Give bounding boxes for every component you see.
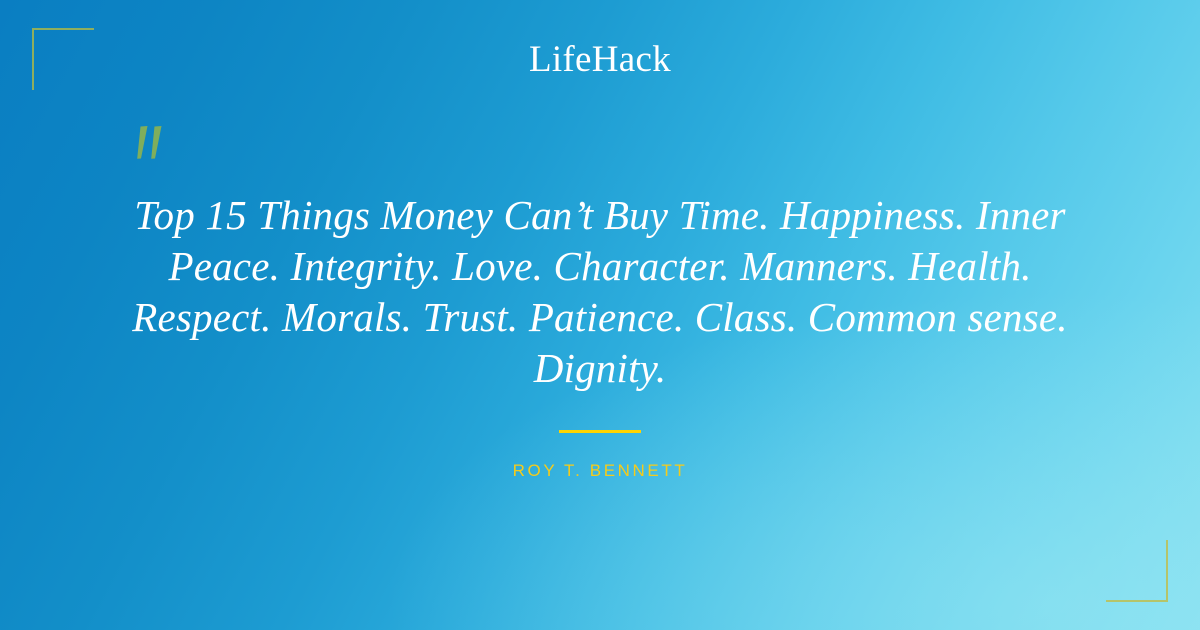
quote-author: ROY T. BENNETT bbox=[0, 461, 1200, 481]
quote-block: Top 15 Things Money Can’t Buy Time. Happ… bbox=[100, 190, 1100, 394]
quote-text: Top 15 Things Money Can’t Buy Time. Happ… bbox=[100, 190, 1100, 394]
corner-bracket-bottom-right-icon bbox=[1106, 540, 1168, 602]
double-quote-icon bbox=[130, 124, 174, 168]
divider bbox=[559, 430, 641, 433]
quote-card: LifeHack Top 15 Things Money Can’t Buy T… bbox=[0, 0, 1200, 630]
brand-logo: LifeHack bbox=[0, 40, 1200, 81]
attribution-block: ROY T. BENNETT bbox=[0, 430, 1200, 481]
